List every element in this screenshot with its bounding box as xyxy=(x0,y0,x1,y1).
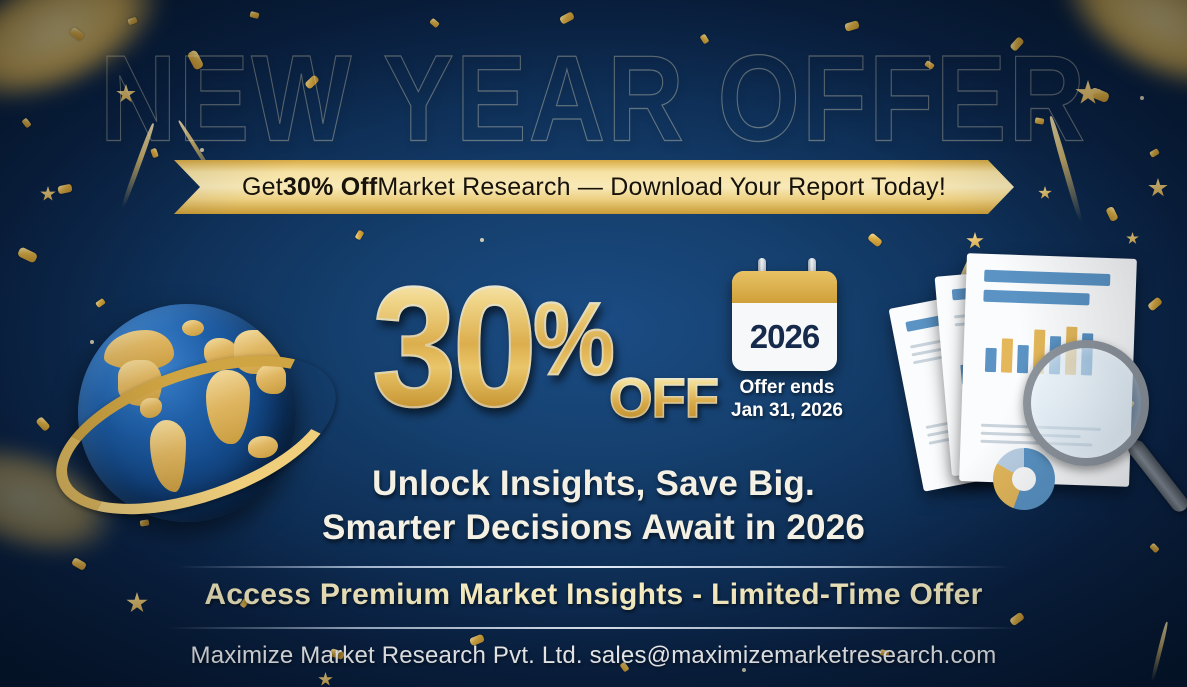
discount-number: 30 xyxy=(372,252,533,442)
discount-value: 30% xyxy=(372,262,613,432)
offer-end-line2: Jan 31, 2026 xyxy=(708,399,866,422)
star-icon xyxy=(966,232,984,250)
divider-top xyxy=(178,566,1010,568)
subline: Access Premium Market Insights - Limited… xyxy=(0,578,1187,612)
star-icon xyxy=(1038,186,1052,200)
tagline-line2: Smarter Decisions Await in 2026 xyxy=(0,506,1187,550)
ribbon-suffix: Market Research — Download Your Report T… xyxy=(377,173,946,202)
tagline: Unlock Insights, Save Big. Smarter Decis… xyxy=(0,462,1187,550)
divider-bottom xyxy=(168,627,1020,629)
percent-symbol: % xyxy=(533,282,613,396)
footer-contact: Maximize Market Research Pvt. Ltd. sales… xyxy=(0,642,1187,670)
offer-end-line1: Offer ends xyxy=(708,376,866,399)
offer-end-caption: Offer ends Jan 31, 2026 xyxy=(708,376,866,422)
ribbon-text: Get 30% Off Market Research — Download Y… xyxy=(174,160,1014,214)
page-title: NEW YEAR OFFER xyxy=(0,38,1187,161)
magnifying-glass-icon xyxy=(1023,340,1149,466)
calendar-year: 2026 xyxy=(732,303,837,371)
star-icon xyxy=(318,672,333,687)
calendar-icon: 2026 Offer ends Jan 31, 2026 xyxy=(716,258,858,438)
calendar-body: 2026 xyxy=(732,271,837,371)
star-icon xyxy=(1148,178,1168,198)
ribbon-highlight: 30% Off xyxy=(283,173,377,202)
new-year-offer-banner: NEW YEAR OFFER Get 30% Off Market Resear… xyxy=(0,0,1187,687)
offer-ribbon: Get 30% Off Market Research — Download Y… xyxy=(174,160,1014,214)
star-icon xyxy=(1126,232,1139,245)
calendar-header-band xyxy=(732,271,837,303)
star-icon xyxy=(40,186,56,202)
discount-block: 30% OFF xyxy=(372,262,712,437)
tagline-line1: Unlock Insights, Save Big. xyxy=(372,464,815,503)
discount-off-label: OFF xyxy=(609,370,718,426)
ribbon-prefix: Get xyxy=(242,173,283,202)
